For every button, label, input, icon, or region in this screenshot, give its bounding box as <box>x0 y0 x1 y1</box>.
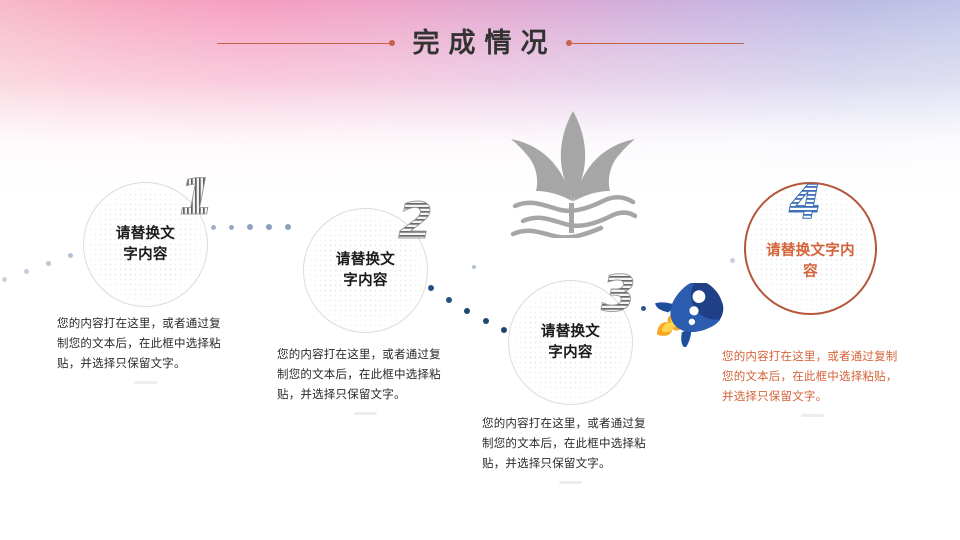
step-heading-line1: 请替换文字内 <box>766 243 855 259</box>
svg-text:2: 2 <box>398 192 433 250</box>
plant-sprout-icon <box>503 103 643 238</box>
step-heading-3: 请替换文 字内容 <box>524 322 618 363</box>
step-divider-2 <box>354 412 377 415</box>
step-divider-1 <box>134 381 157 384</box>
step-body-3: 您的内容打在这里，或者通过复制您的文本后，在此框中选择粘贴，并选择只保留文字。 <box>482 415 654 474</box>
step-body-2: 您的内容打在这里，或者通过复制您的文本后，在此框中选择粘贴，并选择只保留文字。 <box>277 346 449 405</box>
svg-text:3: 3 <box>601 265 636 323</box>
slide-title-bar: 完成情况 <box>0 22 960 64</box>
step-numeral-1: 1 <box>175 168 217 220</box>
svg-text:4: 4 <box>788 175 821 229</box>
title-dot-right-icon <box>566 40 572 46</box>
step-divider-3 <box>559 481 582 484</box>
svg-text:1: 1 <box>179 168 214 226</box>
step-heading-line2: 字内容 <box>123 247 167 263</box>
step-divider-4 <box>801 414 824 417</box>
title-dot-left-icon <box>389 40 395 46</box>
step-heading-4: 请替换文字内 容 <box>761 241 861 282</box>
step-heading-line1: 请替换文 <box>541 324 600 340</box>
step-numeral-4: 4 <box>787 174 831 226</box>
rocket-icon <box>645 283 727 347</box>
step-numeral-2: 2 <box>395 191 439 245</box>
title-rule-left <box>217 43 392 44</box>
slide-canvas: 完成情况 <box>0 0 960 540</box>
step-heading-line2: 字内容 <box>548 345 592 361</box>
step-heading-1: 请替换文 字内容 <box>99 224 193 265</box>
step-heading-line1: 请替换文 <box>116 226 175 242</box>
step-numeral-3: 3 <box>598 264 642 318</box>
step-body-4: 您的内容打在这里，或者通过复制您的文本后，在此框中选择粘贴，并选择只保留文字。 <box>722 348 899 407</box>
step-heading-2: 请替换文 字内容 <box>319 250 413 291</box>
step-heading-line2: 容 <box>803 264 818 280</box>
title-rule-right <box>569 43 744 44</box>
step-heading-line2: 字内容 <box>343 273 387 289</box>
step-body-1: 您的内容打在这里，或者通过复制您的文本后，在此框中选择粘贴，并选择只保留文字。 <box>57 315 229 374</box>
step-heading-line1: 请替换文 <box>336 252 395 268</box>
page-title: 完成情况 <box>404 30 557 57</box>
